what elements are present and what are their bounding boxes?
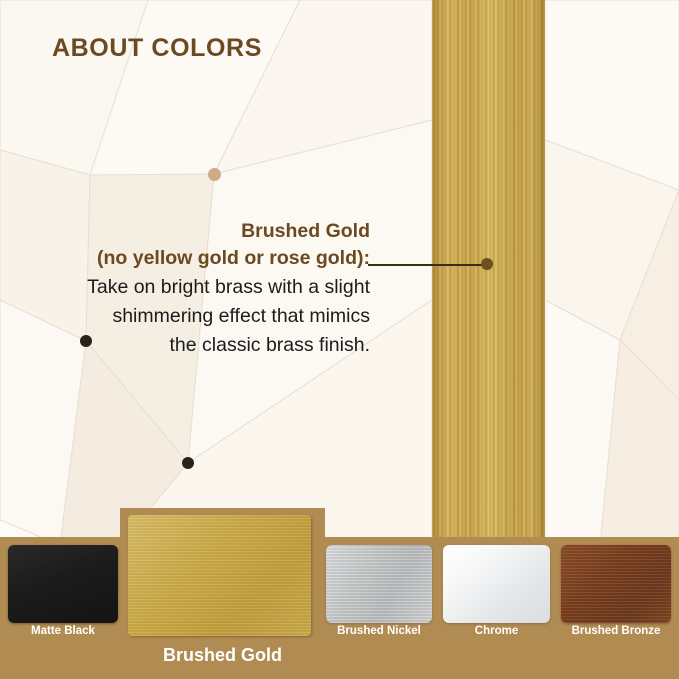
callout-line-3: Take on bright brass with a slight (40, 274, 370, 301)
swatch-label-brushed-bronze: Brushed Bronze (553, 625, 679, 637)
swatch-label-brushed-gold: Brushed Gold (120, 645, 325, 666)
page-title: ABOUT COLORS (52, 34, 262, 63)
swatch-label-chrome: Chrome (443, 625, 550, 637)
callout-leader-line (368, 264, 488, 266)
callout-line-4: shimmering effect that mimics (40, 303, 370, 330)
swatch-brushed-bronze[interactable] (561, 545, 671, 623)
callout-line-5: the classic brass finish. (40, 332, 370, 359)
swatch-label-brushed-nickel: Brushed Nickel (320, 625, 438, 637)
callout-leader-dot (481, 258, 493, 270)
brushed-gold-panel (432, 0, 545, 545)
about-colors-infographic: ABOUT COLORS Brushed Gold (no yellow gol… (0, 0, 679, 679)
swatch-chrome[interactable] (443, 545, 550, 623)
callout-line-2: (no yellow gold or rose gold): (40, 245, 370, 272)
swatch-brushed-nickel[interactable] (326, 545, 432, 623)
accent-dot-tan (208, 168, 221, 181)
swatch-brushed-gold[interactable] (128, 515, 311, 636)
swatch-matte-black[interactable] (8, 545, 118, 623)
callout-text: Brushed Gold (no yellow gold or rose gol… (40, 218, 370, 359)
callout-line-1: Brushed Gold (40, 218, 370, 245)
swatch-label-matte-black: Matte Black (8, 625, 118, 637)
accent-dot-dark-lower (182, 457, 194, 469)
